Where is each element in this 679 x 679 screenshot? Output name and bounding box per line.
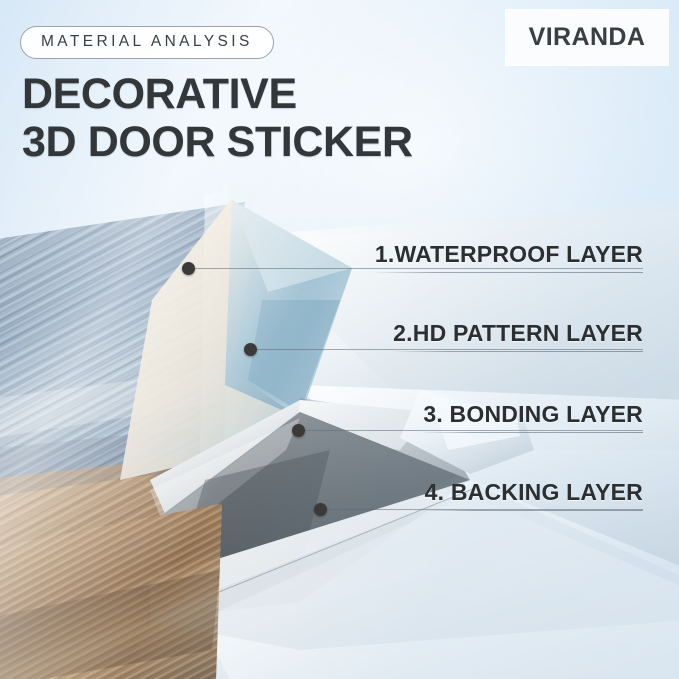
callout-rule-3 xyxy=(423,432,643,433)
callout-label-backing: 4. BACKING LAYER xyxy=(425,479,643,511)
brand-name: VIRANDA xyxy=(529,23,646,52)
callout-label-3-text: 3. BONDING LAYER xyxy=(423,401,643,428)
infographic-canvas: 1.WATERPROOF LAYER 2.HD PATTERN LAYER 3.… xyxy=(0,0,679,679)
dot-marker-2 xyxy=(244,343,257,356)
callout-label-bonding: 3. BONDING LAYER xyxy=(423,401,643,433)
dot-marker-4 xyxy=(314,503,327,516)
material-analysis-badge: MATERIAL ANALYSIS xyxy=(20,26,274,59)
page-title: DECORATIVE 3D DOOR STICKER xyxy=(22,70,413,166)
callout-label-waterproof: 1.WATERPROOF LAYER xyxy=(375,241,643,273)
callout-label-1-text: 1.WATERPROOF LAYER xyxy=(375,241,643,268)
page-title-line-2: 3D DOOR STICKER xyxy=(22,118,413,166)
callout-rule-1 xyxy=(375,272,643,273)
callout-rule-2 xyxy=(393,351,643,352)
brand-logo-box: VIRANDA xyxy=(506,10,668,65)
callout-label-4-text: 4. BACKING LAYER xyxy=(425,479,643,506)
callout-label-2-text: 2.HD PATTERN LAYER xyxy=(393,320,643,347)
dot-marker-3 xyxy=(292,424,305,437)
page-title-line-1: DECORATIVE xyxy=(22,70,413,118)
dot-marker-1 xyxy=(182,262,195,275)
callout-label-hd-pattern: 2.HD PATTERN LAYER xyxy=(393,320,643,352)
callout-rule-4 xyxy=(425,510,643,511)
